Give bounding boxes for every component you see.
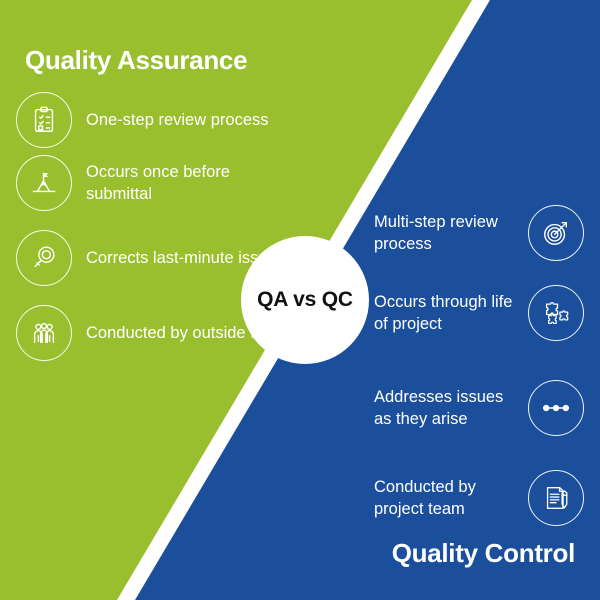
qa-item-2-label: Occurs once before submittal — [86, 161, 296, 206]
qa-item-1-label: One-step review process — [86, 109, 269, 131]
puzzle-pieces-icon — [528, 285, 584, 341]
connected-nodes-icon — [528, 380, 584, 436]
qa-item-2: Occurs once before submittal — [16, 155, 296, 211]
target-with-arrow-icon — [528, 205, 584, 261]
qc-item-2: Occurs through life of project — [374, 285, 584, 341]
qc-item-4: Conducted by project team — [374, 470, 584, 526]
qc-item-3: Addresses issues as they arise — [374, 380, 584, 436]
qc-item-2-label: Occurs through life of project — [374, 291, 514, 336]
qa-item-1: One-step review process — [16, 92, 269, 148]
qc-item-4-label: Conducted by project team — [374, 476, 514, 521]
mountain-summit-flag-icon — [16, 155, 72, 211]
qa-item-4-label: Conducted by outside team — [86, 322, 287, 344]
document-with-pen-icon — [528, 470, 584, 526]
qc-item-1-label: Multi-step review process — [374, 211, 514, 256]
qc-item-1: Multi-step review process — [374, 205, 584, 261]
quality-assurance-heading: Quality Assurance — [25, 45, 247, 76]
qa-item-3-label: Corrects last-minute issues — [86, 247, 285, 269]
qc-item-3-label: Addresses issues as they arise — [374, 386, 514, 431]
quality-control-heading: Quality Control — [392, 538, 575, 569]
qa-vs-qc-infographic: Quality Assurance Quality Control QA vs … — [0, 0, 600, 600]
qa-item-3: Corrects last-minute issues — [16, 230, 285, 286]
magnifying-glass-icon — [16, 230, 72, 286]
clipboard-checklist-icon — [16, 92, 72, 148]
group-of-people-icon — [16, 305, 72, 361]
qa-item-4: Conducted by outside team — [16, 305, 287, 361]
